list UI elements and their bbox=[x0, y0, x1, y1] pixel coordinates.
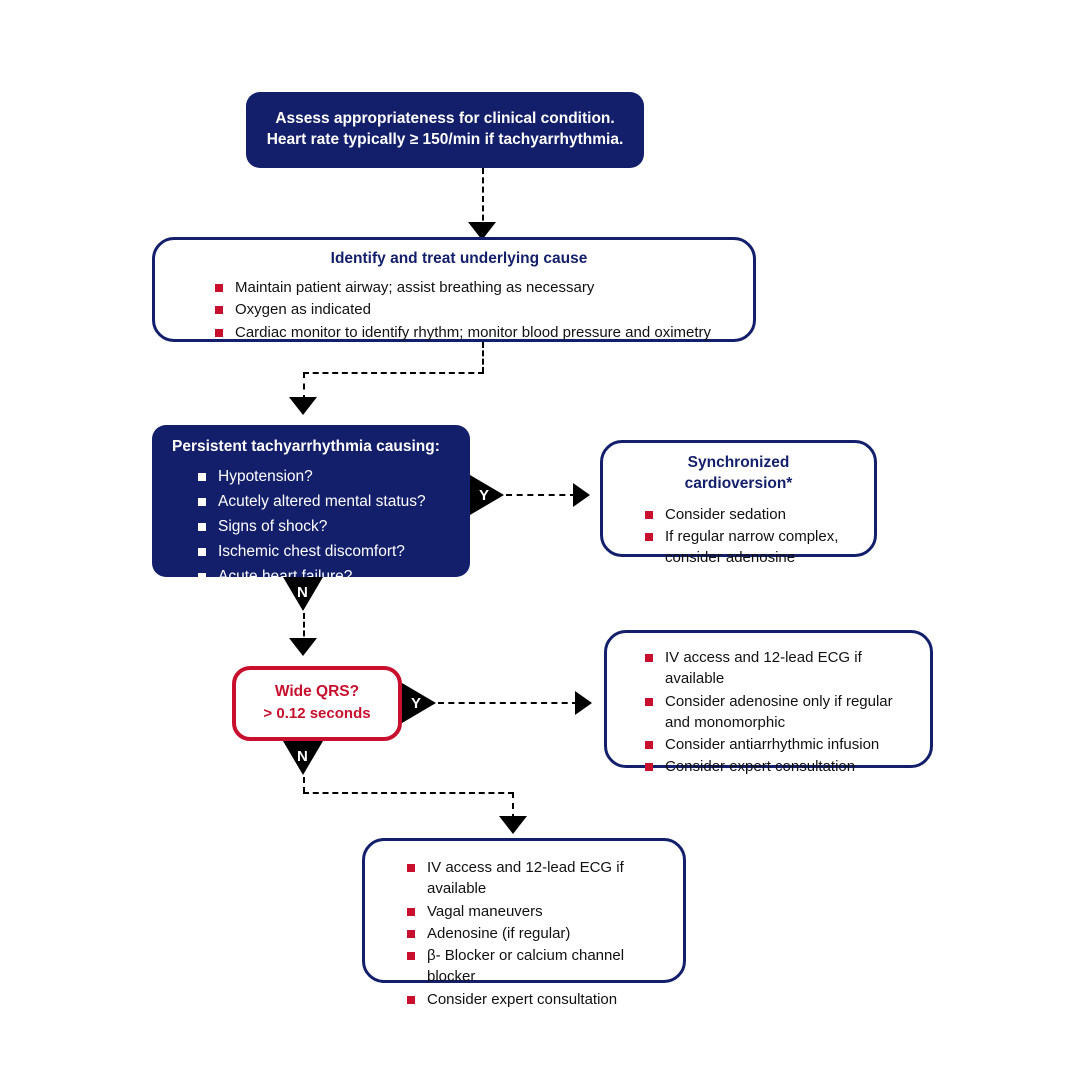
list-item: Vagal maneuvers bbox=[403, 901, 669, 922]
connector-wideqrs-yes bbox=[438, 702, 578, 704]
connector-assess-to-identify bbox=[482, 168, 484, 230]
list-item: Ischemic chest discomfort? bbox=[194, 541, 458, 563]
node-wide-qrs-decision: Wide QRS? > 0.12 seconds bbox=[232, 666, 402, 741]
branch-label-no-wideqrs: N bbox=[297, 749, 308, 764]
cardioversion-bullet-list: Consider sedation If regular narrow comp… bbox=[617, 504, 860, 569]
connector-identify-drop bbox=[482, 342, 484, 373]
connector-persistent-yes bbox=[506, 494, 576, 496]
branch-label-yes-persistent: Y bbox=[479, 488, 489, 503]
narrow-bullet-list: IV access and 12-lead ECG if available V… bbox=[379, 857, 669, 1010]
arrowhead-wide-yes bbox=[575, 691, 592, 715]
persistent-bullet-list: Hypotension? Acutely altered mental stat… bbox=[172, 466, 458, 588]
node-wide-qrs-yes-actions: IV access and 12-lead ECG if available C… bbox=[604, 630, 933, 768]
list-item: IV access and 12-lead ECG if available bbox=[641, 647, 916, 690]
connector-wideqrs-no-drop bbox=[303, 777, 305, 793]
arrowhead-narrow bbox=[499, 816, 527, 834]
list-item: Signs of shock? bbox=[194, 516, 458, 538]
node-persistent-tachyarrhythmia: Persistent tachyarrhythmia causing: Hypo… bbox=[152, 425, 470, 577]
connector-identify-jog bbox=[303, 372, 484, 374]
list-item: Consider adenosine only if regular and m… bbox=[641, 691, 916, 734]
list-item: IV access and 12-lead ECG if available bbox=[403, 857, 669, 900]
arrowhead-cardioversion bbox=[573, 483, 590, 507]
identify-heading: Identify and treat underlying cause bbox=[181, 249, 737, 270]
list-item: Acute heart failure? bbox=[194, 566, 458, 588]
wideqrs-heading: Wide QRS? bbox=[275, 682, 359, 703]
arrowhead-wideqrs bbox=[289, 638, 317, 656]
branch-label-no-persistent: N bbox=[297, 585, 308, 600]
branch-label-yes-wideqrs: Y bbox=[411, 696, 421, 711]
assess-line-1: Assess appropriateness for clinical cond… bbox=[275, 109, 614, 130]
persistent-heading: Persistent tachyarrhythmia causing: bbox=[172, 438, 458, 456]
node-assess-appropriateness: Assess appropriateness for clinical cond… bbox=[246, 92, 644, 168]
connector-wideqrs-no-jog bbox=[303, 792, 514, 794]
list-item: Consider sedation bbox=[641, 504, 860, 525]
list-item: Maintain patient airway; assist breathin… bbox=[211, 277, 737, 298]
list-item: Oxygen as indicated bbox=[211, 299, 737, 320]
list-item: Adenosine (if regular) bbox=[403, 923, 669, 944]
list-item: Consider expert consultation bbox=[641, 756, 916, 777]
identify-bullet-list: Maintain patient airway; assist breathin… bbox=[181, 277, 737, 343]
list-item: Acutely altered mental status? bbox=[194, 491, 458, 513]
node-synchronized-cardioversion: Synchronized cardioversion* Consider sed… bbox=[600, 440, 877, 557]
flowchart-canvas: Assess appropriateness for clinical cond… bbox=[0, 0, 1080, 1080]
list-item: β- Blocker or calcium channel blocker bbox=[403, 945, 669, 988]
list-item: Cardiac monitor to identify rhythm; moni… bbox=[211, 322, 737, 343]
wideqrs-subtext: > 0.12 seconds bbox=[263, 703, 370, 726]
cardioversion-heading-line-2: cardioversion* bbox=[617, 474, 860, 495]
assess-line-2: Heart rate typically ≥ 150/min if tachya… bbox=[267, 130, 624, 151]
list-item: If regular narrow complex, consider aden… bbox=[641, 526, 860, 569]
wide-yes-bullet-list: IV access and 12-lead ECG if available C… bbox=[619, 647, 916, 778]
node-identify-treat-cause: Identify and treat underlying cause Main… bbox=[152, 237, 756, 342]
list-item: Consider antiarrhythmic infusion bbox=[641, 734, 916, 755]
list-item: Consider expert consultation bbox=[403, 989, 669, 1010]
list-item: Hypotension? bbox=[194, 466, 458, 488]
node-narrow-complex-actions: IV access and 12-lead ECG if available V… bbox=[362, 838, 686, 983]
arrowhead-persistent bbox=[289, 397, 317, 415]
cardioversion-heading-line-1: Synchronized bbox=[617, 453, 860, 474]
